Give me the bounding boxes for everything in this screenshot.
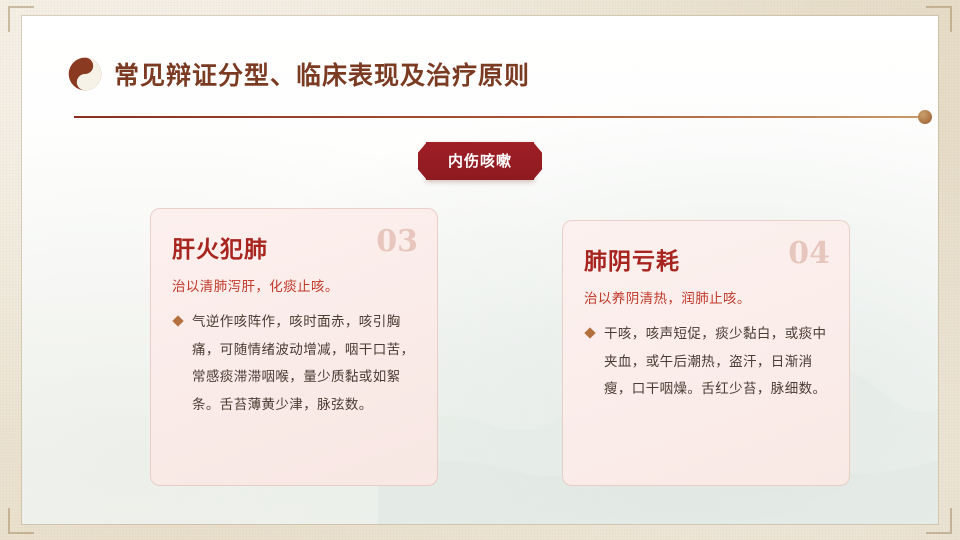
card-header: 肝火犯肺 03: [172, 230, 418, 264]
diamond-bullet-icon: [172, 315, 183, 326]
card-title: 肺阴亏耗: [584, 242, 680, 276]
section-badge: 内伤咳嗽: [426, 142, 534, 180]
slide-header: 常见辩证分型、临床表现及治疗原则: [68, 56, 530, 92]
header-divider: [74, 116, 922, 118]
section-badge-wrap: 内伤咳嗽: [22, 142, 938, 180]
card-principle: 治以养阴清热，润肺止咳。: [584, 287, 830, 307]
yin-yang-icon: [68, 57, 102, 91]
page-title: 常见辩证分型、临床表现及治疗原则: [114, 56, 530, 92]
card-symptoms: 气逆作咳阵作，咳时面赤，咳引胸痛，可随情绪波动增减，咽干口苦，常感痰滞滞咽喉，量…: [192, 309, 418, 420]
card-symptoms: 干咳，咳声短促，痰少黏白，或痰中夹血，或午后潮热，盗汗，日渐消瘦，口干咽燥。舌红…: [604, 321, 830, 404]
diamond-bullet-icon: [584, 327, 595, 338]
card-feiyinkuihao[interactable]: 肺阴亏耗 04 治以养阴清热，润肺止咳。 干咳，咳声短促，痰少黏白，或痰中夹血，…: [562, 220, 850, 486]
card-bullet-row: 干咳，咳声短促，痰少黏白，或痰中夹血，或午后潮热，盗汗，日渐消瘦，口干咽燥。舌红…: [584, 321, 830, 404]
card-number: 04: [788, 240, 830, 269]
header-divider-dot: [918, 110, 932, 124]
card-header: 肺阴亏耗 04: [584, 242, 830, 276]
card-title: 肝火犯肺: [172, 230, 268, 264]
card-bullet-row: 气逆作咳阵作，咳时面赤，咳引胸痛，可随情绪波动增减，咽干口苦，常感痰滞滞咽喉，量…: [172, 309, 418, 420]
section-badge-label: 内伤咳嗽: [448, 152, 512, 170]
card-number: 03: [376, 228, 418, 257]
card-principle: 治以清肺泻肝，化痰止咳。: [172, 275, 418, 295]
card-hanhuofanfei[interactable]: 肝火犯肺 03 治以清肺泻肝，化痰止咳。 气逆作咳阵作，咳时面赤，咳引胸痛，可随…: [150, 208, 438, 486]
slide-canvas: 常见辩证分型、临床表现及治疗原则 内伤咳嗽 肝火犯肺 03 治以清肺泻肝，化痰止…: [22, 16, 938, 524]
